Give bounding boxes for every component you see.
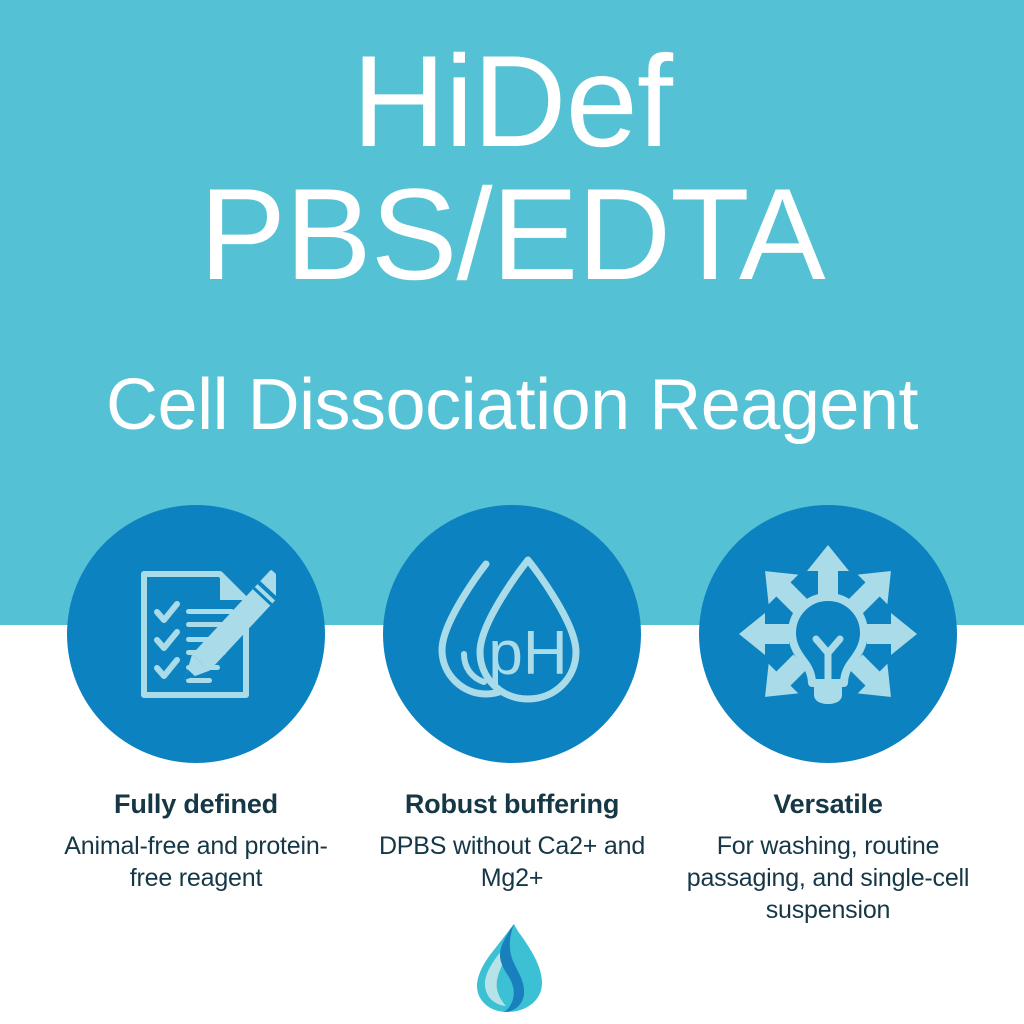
- feature-icon-circle: pH: [383, 505, 641, 763]
- feature-title: Fully defined: [114, 789, 278, 820]
- ph-droplet-icon: pH: [428, 550, 596, 718]
- water-droplet-flame-logo: [474, 922, 550, 1019]
- product-title-line-2: PBS/EDTA: [0, 171, 1024, 298]
- brand-logo: [0, 922, 1024, 1019]
- checklist-pencil-icon: [116, 554, 276, 714]
- feature-list: Fully defined Animal-free and protein-fr…: [0, 505, 1024, 926]
- product-subtitle: Cell Dissociation Reagent: [0, 368, 1024, 444]
- feature-description: Animal-free and protein-free reagent: [46, 830, 346, 894]
- feature-title: Robust buffering: [405, 789, 619, 820]
- feature-description: For washing, routine passaging, and sing…: [678, 830, 978, 926]
- feature-item-versatile: Versatile For washing, routine passaging…: [670, 505, 986, 926]
- feature-icon-circle: [67, 505, 325, 763]
- feature-icon-circle: [699, 505, 957, 763]
- feature-description: DPBS without Ca2+ and Mg2+: [362, 830, 662, 894]
- feature-item-robust-buffering: pH Robust buffering DPBS without Ca2+ an…: [354, 505, 670, 894]
- lightbulb-arrows-icon: [735, 541, 921, 727]
- product-title: HiDef PBS/EDTA: [0, 38, 1024, 299]
- feature-item-fully-defined: Fully defined Animal-free and protein-fr…: [38, 505, 354, 894]
- feature-title: Versatile: [773, 789, 882, 820]
- poster-canvas: HiDef PBS/EDTA Cell Dissociation Reagent: [0, 0, 1024, 1024]
- svg-text:pH: pH: [488, 619, 567, 688]
- product-title-line-1: HiDef: [0, 38, 1024, 165]
